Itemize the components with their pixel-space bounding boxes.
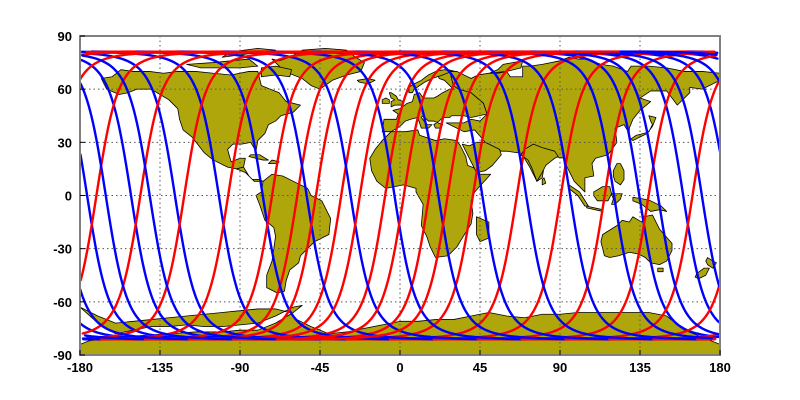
x-tick-label: 135 — [629, 360, 651, 375]
x-tick-label: 0 — [396, 360, 403, 375]
y-tick-label: -90 — [53, 348, 72, 363]
x-tick-label: 45 — [473, 360, 487, 375]
x-tick-label: -45 — [311, 360, 330, 375]
y-tick-label: 60 — [58, 82, 72, 97]
x-tick-label: 180 — [709, 360, 731, 375]
plot-area: -180-135-90-4504590135180 -90-60-3003060… — [0, 0, 800, 400]
y-tick-label: 0 — [65, 189, 72, 204]
y-tick-label: 90 — [58, 29, 72, 44]
y-tick-label: -60 — [53, 295, 72, 310]
x-tick-label: -90 — [231, 360, 250, 375]
ground-track-figure: 2007-01-08 Version: 5.00 Standard Red is… — [0, 0, 800, 400]
y-tick-label: 30 — [58, 135, 72, 150]
y-tick-label: -30 — [53, 242, 72, 257]
x-tick-label: 90 — [553, 360, 567, 375]
map-svg: -180-135-90-4504590135180 -90-60-3003060… — [0, 0, 800, 400]
x-axis-labels: -180-135-90-4504590135180 — [67, 360, 731, 375]
x-tick-label: -135 — [147, 360, 173, 375]
